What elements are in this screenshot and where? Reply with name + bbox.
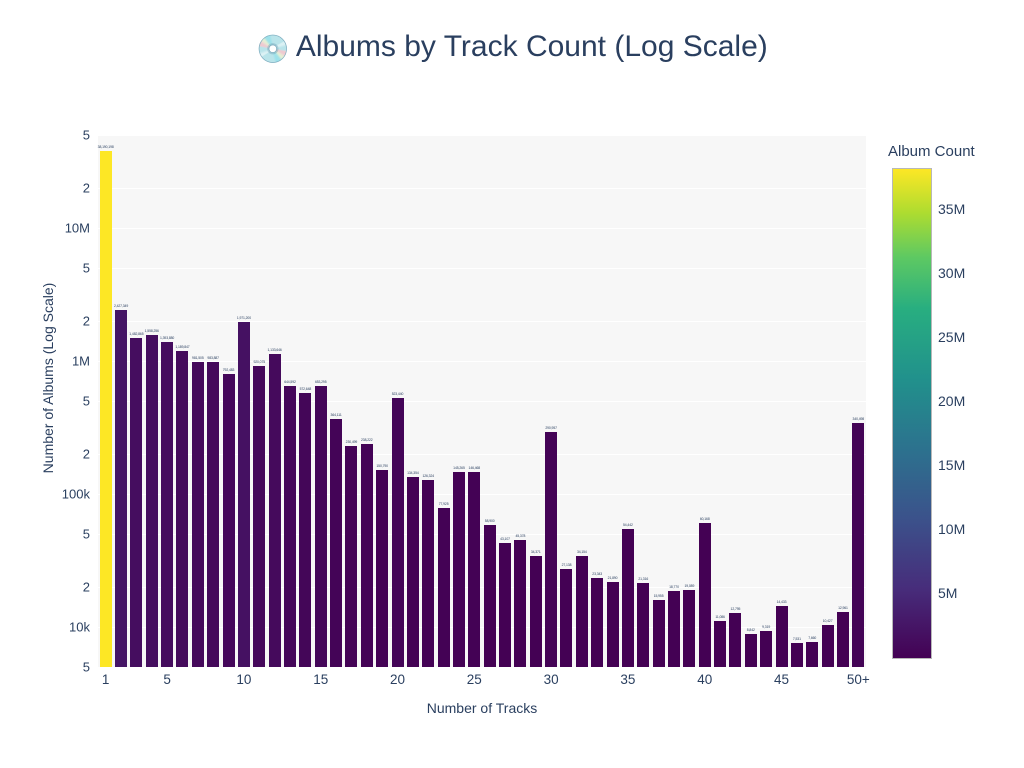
bar-value-label: 364,111 [331,413,342,417]
bar[interactable] [683,590,695,667]
y-tick-label: 10k [69,619,90,634]
bar[interactable] [146,335,158,667]
bar-value-label: 21,890 [608,576,618,580]
bar[interactable] [699,523,711,667]
bar-value-label: 23,343 [592,572,602,576]
bar-value-label: 1,133,646 [268,348,282,352]
bars-layer: 38,190,1982,427,3491,482,8651,558,2561,3… [98,135,866,667]
bar-value-label: 43,107 [500,537,510,541]
y-axis-title: Number of Albums (Log Scale) [40,238,56,518]
bar-value-label: 12,961 [838,606,848,610]
bar[interactable] [745,634,757,667]
bar[interactable] [530,556,542,667]
colorbar-title: Album Count [888,143,975,160]
bar[interactable] [376,470,388,667]
bar[interactable] [837,612,849,667]
x-tick-label: 30 [544,672,559,687]
bar[interactable] [760,631,772,667]
bar[interactable] [484,525,496,667]
bar[interactable] [192,362,204,667]
colorbar-tick-label: 35M [938,201,965,217]
bar-value-label: 238,222 [361,438,373,442]
colorbar-tick-label: 30M [938,265,965,281]
bar[interactable] [407,477,419,667]
bar-value-label: 54,442 [623,523,633,527]
bar-value-label: 11,086 [715,615,725,619]
y-tick-label: 5 [83,394,90,409]
bar[interactable] [622,529,634,667]
colorbar-tick-label: 25M [938,329,965,345]
x-tick-label: 35 [620,672,635,687]
bar[interactable] [806,642,818,667]
y-tick-label: 10M [65,220,90,235]
bar-value-label: 126,324 [422,474,434,478]
bar[interactable] [468,472,480,667]
bar-value-label: 21,316 [638,577,648,581]
bar[interactable] [269,354,281,667]
colorbar-tick-label: 5M [938,585,957,601]
x-tick-label: 15 [313,672,328,687]
bar-value-label: 8,842 [747,628,755,632]
colorbar-tick-label: 20M [938,393,965,409]
bar-value-label: 14,433 [777,600,787,604]
bar-value-label: 230,499 [346,440,358,444]
bar-value-label: 1,558,256 [145,329,159,333]
bar-value-label: 77,925 [439,502,449,506]
bar[interactable] [100,151,112,667]
bar-value-label: 983,887 [207,356,219,360]
bar[interactable] [345,446,357,667]
bar[interactable] [284,386,296,667]
bar-value-label: 58,900 [485,519,495,523]
bar-value-label: 34,154 [577,550,587,554]
bar[interactable] [176,351,188,667]
bar-value-label: 60,168 [700,517,710,521]
bar[interactable] [729,613,741,667]
bar[interactable] [791,643,803,667]
bar[interactable] [545,432,557,667]
y-tick-label: 5 [83,261,90,276]
bar-value-label: 981,505 [192,356,204,360]
bar[interactable] [776,606,788,667]
y-tick-label: 5 [83,527,90,542]
bar[interactable] [392,398,404,667]
x-tick-label: 10 [236,672,251,687]
x-tick-label: 25 [467,672,482,687]
bar-value-label: 523,440 [392,392,404,396]
bar-value-label: 15,955 [654,594,664,598]
bar[interactable] [438,508,450,667]
bar[interactable] [422,480,434,667]
bar-value-label: 146,468 [469,466,481,470]
colorbar-gradient [892,168,932,659]
x-axis-ticks: 15101520253035404550+ [98,667,866,695]
bar-value-label: 18,770 [669,585,679,589]
bar[interactable] [822,625,834,667]
x-tick-label: 20 [390,672,405,687]
bar[interactable] [653,600,665,667]
bar[interactable] [560,569,572,667]
bar-value-label: 10,427 [823,619,833,623]
bar[interactable] [130,338,142,667]
colorbar: Album Count 5M10M15M20M25M30M35M [884,135,1024,667]
y-tick-label: 2 [83,579,90,594]
colorbar-tick-label: 10M [938,521,965,537]
bar-value-label: 1,189,847 [175,345,189,349]
y-tick-label: 1M [72,353,90,368]
bar-value-label: 644,592 [284,380,296,384]
bar-value-label: 38,190,198 [98,145,114,149]
x-tick-label: 50+ [847,672,870,687]
bar-value-label: 653,295 [315,380,327,384]
bar-value-label: 1,971,200 [237,316,251,320]
bar-value-label: 572,648 [300,387,312,391]
bar-value-label: 290,957 [545,426,557,430]
bar-value-label: 145,265 [453,466,465,470]
plot-area: 38,190,1982,427,3491,482,8651,558,2561,3… [98,135,866,667]
bar[interactable] [238,322,250,667]
bar[interactable] [253,366,265,667]
bar[interactable] [637,583,649,667]
bar-value-label: 920,075 [253,360,265,364]
bar[interactable] [161,342,173,667]
bar-value-label: 1,482,865 [129,332,143,336]
bar-value-label: 1,393,880 [160,336,174,340]
bar-value-label: 19,089 [684,584,694,588]
bar[interactable] [361,444,373,667]
x-tick-label: 5 [163,672,171,687]
y-tick-label: 100k [62,486,90,501]
bar[interactable] [514,540,526,667]
bar-value-label: 12,795 [731,607,741,611]
bar-value-label: 7,660 [808,636,816,640]
bar[interactable] [207,362,219,667]
bar-value-label: 7,531 [793,637,801,641]
x-tick-label: 1 [102,672,110,687]
bar-value-label: 792,483 [223,368,235,372]
y-tick-label: 5 [83,660,90,675]
bar[interactable] [223,374,235,667]
y-tick-label: 5 [83,128,90,143]
bar[interactable] [299,393,311,667]
optical-disc-icon: 💿 [256,34,290,64]
bar-value-label: 9,319 [762,625,770,629]
bar[interactable] [330,419,342,667]
bar[interactable] [315,386,327,667]
bar-value-label: 45,378 [516,534,526,538]
bar-value-label: 340,498 [853,417,865,421]
bar[interactable] [499,543,511,667]
x-tick-label: 45 [774,672,789,687]
bar-value-label: 34,371 [531,550,541,554]
y-tick-label: 2 [83,180,90,195]
bar[interactable] [591,578,603,667]
bar-value-label: 150,790 [376,464,388,468]
bar[interactable] [668,591,680,667]
bar-value-label: 134,354 [407,471,419,475]
bar[interactable] [576,556,588,667]
x-tick-label: 40 [697,672,712,687]
bar[interactable] [714,621,726,667]
bar[interactable] [852,423,864,667]
y-tick-label: 2 [83,446,90,461]
x-axis-title: Number of Tracks [98,700,866,716]
page-title: 💿Albums by Track Count (Log Scale) [0,30,1024,65]
colorbar-tick-label: 15M [938,457,965,473]
bar-value-label: 27,138 [562,563,572,567]
page-title-text: Albums by Track Count (Log Scale) [296,30,768,63]
chart-container: 💿Albums by Track Count (Log Scale) 5210M… [0,0,1024,768]
y-tick-label: 2 [83,313,90,328]
bar[interactable] [115,310,127,667]
bar[interactable] [453,472,465,667]
bar-value-label: 2,427,349 [114,304,128,308]
bar[interactable] [607,582,619,667]
